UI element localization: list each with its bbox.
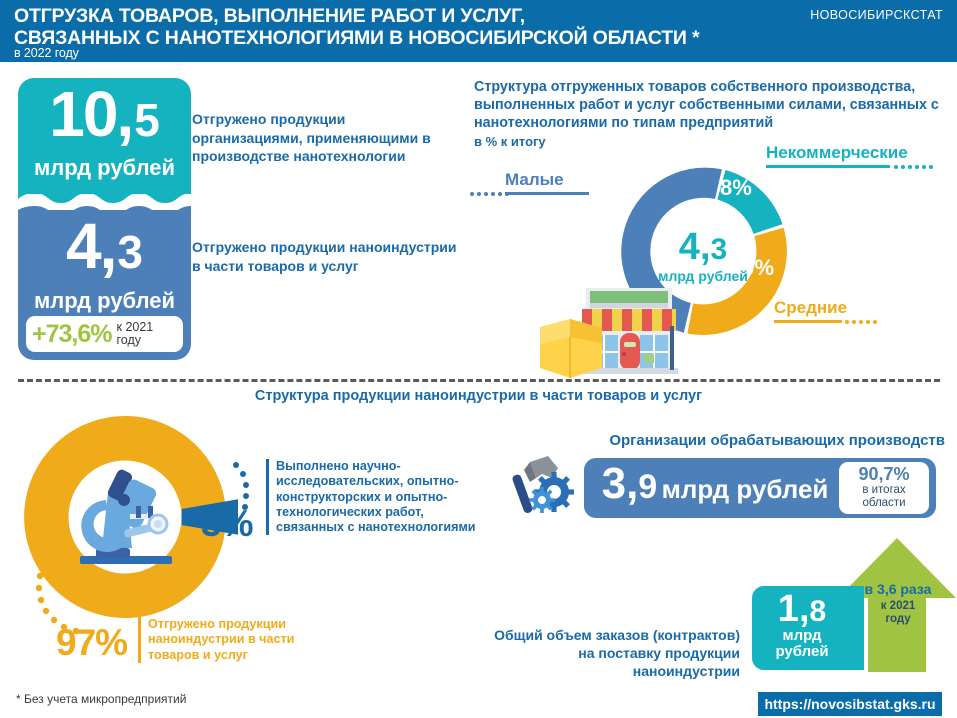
legend-dots-noncommercial (894, 165, 933, 169)
manufacturing-title: Организации обрабатывающих производств (560, 432, 945, 449)
orders-unit: млрд рублей (752, 628, 852, 660)
legend-dots-small (470, 192, 509, 196)
manufacturing-share-line1: в итогах (839, 484, 929, 497)
orders-unit-line2: рублей (775, 643, 828, 660)
legend-rule-small (505, 192, 589, 195)
page-title-line2: СВЯЗАННЫХ С НАНОТЕХНОЛОГИЯМИ В НОВОСИБИР… (14, 27, 714, 49)
growth-value: +73,6% (32, 320, 112, 349)
growth-badge: +73,6% к 2021 году (26, 316, 183, 352)
manufacturing-unit: млрд рублей (662, 474, 829, 504)
growth-label: к 2021 году (117, 321, 154, 347)
orders-value-whole: 1 (778, 588, 799, 630)
manufacturing-share-badge: 90,7% в итогах области (839, 462, 929, 514)
manufacturing-share-pct: 90,7% (839, 465, 929, 484)
manufacturing-share-line2: области (839, 497, 929, 510)
manufacturing-value-comma: , (626, 459, 638, 508)
pct-research: 3% (201, 503, 252, 545)
mid-section-title: Структура продукции наноиндустрии в част… (0, 388, 957, 404)
value-shipped-total-whole: 10 (49, 78, 116, 150)
orders-growth-sublabel: к 2021 году (846, 600, 950, 626)
infographic-page: ОТГРУЗКА ТОВАРОВ, ВЫПОЛНЕНИЕ РАБОТ И УСЛ… (0, 0, 957, 718)
donut-center-value: 4,3 (592, 228, 814, 266)
orders-value: 1,8 (752, 590, 852, 628)
donut-section-title: Структура отгруженных товаров собственно… (474, 78, 944, 132)
value-shipped-total-comma: , (116, 78, 134, 150)
orders-description-line2: на поставку продукции наноиндустрии (578, 645, 740, 679)
orders-value-comma: , (799, 588, 810, 630)
donut-center-frac: 3 (711, 233, 728, 266)
donut-pct-small: 52% (592, 175, 636, 201)
legend-rule-noncommercial (766, 165, 890, 168)
pct-shipped: 97% (56, 622, 127, 664)
legend-label-small: Малые (505, 170, 564, 190)
description-shipped-total: Отгружено продукции организациями, приме… (192, 110, 457, 166)
orders-description-line1: Общий объем заказов (контрактов) (494, 627, 740, 643)
description-shipped-nano: Отгружено продукции наноиндустрии в част… (192, 238, 457, 275)
value-shipped-total-frac: 5 (134, 94, 160, 146)
donut-section-subtitle: в % к итогу (474, 134, 546, 149)
description-shipped: Отгружено продукции наноиндустрии в част… (138, 617, 328, 663)
value-shipped-nano-comma: , (100, 210, 118, 282)
storefront-icon (540, 280, 695, 378)
page-title-line1: ОТГРУЗКА ТОВАРОВ, ВЫПОЛНЕНИЕ РАБОТ И УСЛ… (14, 5, 525, 27)
donut-pct-noncommercial: 8% (720, 175, 752, 201)
value-shipped-total: 10,5 (18, 82, 191, 146)
value-shipped-nano-whole: 4 (66, 210, 100, 282)
growth-label-line2: году (117, 333, 142, 347)
orders-description: Общий объем заказов (контрактов) на пост… (470, 626, 740, 680)
orders-growth-label: в 3,6 раза (846, 582, 950, 597)
unit-shipped-nano: млрд рублей (18, 288, 191, 314)
growth-label-line1: к 2021 (117, 320, 154, 334)
microscope-icon (62, 452, 190, 580)
value-shipped-nano-frac: 3 (117, 226, 143, 278)
organization-label: НОВОСИБИРСКСТАТ (810, 8, 943, 22)
footnote: * Без учета микропредприятий (16, 692, 186, 706)
orders-unit-line1: млрд (783, 627, 822, 644)
description-research: Выполнено научно-исследовательских, опыт… (266, 459, 476, 535)
manufacturing-value-frac: 9 (638, 468, 657, 506)
manufacturing-value-whole: 3 (602, 459, 626, 508)
legend-rule-medium (774, 320, 842, 323)
legend-dots-medium (845, 320, 877, 324)
page-title: ОТГРУЗКА ТОВАРОВ, ВЫПОЛНЕНИЕ РАБОТ И УСЛ… (14, 5, 714, 49)
manufacturing-value: 3,9 млрд рублей (600, 462, 830, 506)
website-url-badge[interactable]: https://novosibstat.gks.ru (758, 692, 942, 716)
value-shipped-nano: 4,3 (18, 214, 191, 278)
legend-label-noncommercial: Некоммерческие (766, 143, 908, 163)
unit-shipped-total: млрд рублей (18, 155, 191, 181)
orders-value-frac: 8 (810, 595, 827, 628)
page-subtitle: в 2022 году (14, 46, 79, 60)
orders-growth-sub-line2: году (885, 613, 910, 625)
section-divider (18, 379, 940, 382)
legend-label-medium: Средние (774, 298, 847, 318)
donut-center-whole: 4 (679, 226, 700, 268)
hammer-gear-icon (508, 452, 580, 518)
orders-growth-sub-line1: к 2021 (881, 600, 916, 612)
donut-center-comma: , (700, 226, 711, 268)
